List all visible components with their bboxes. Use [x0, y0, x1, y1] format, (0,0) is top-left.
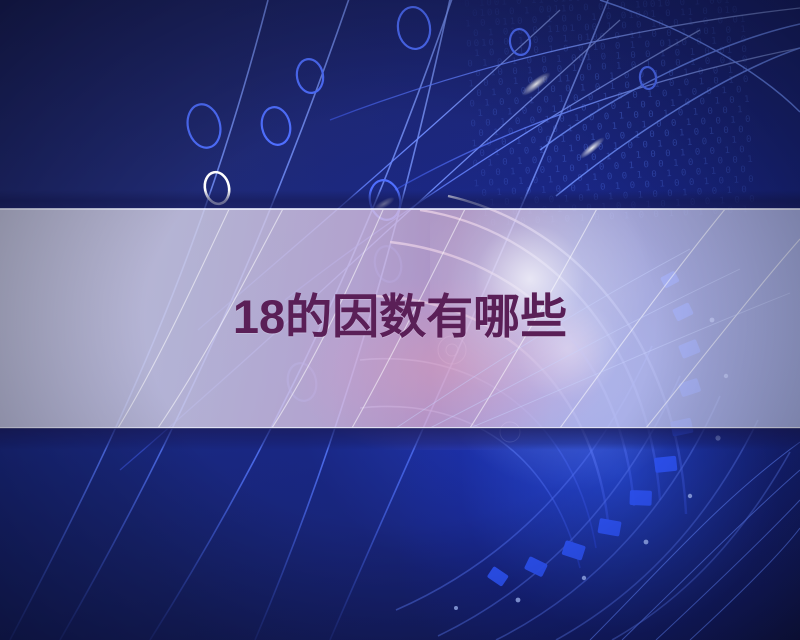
banner-image: 0 1001 0 11 0100 010 0 1 0110 00 1 0 010… — [0, 0, 800, 640]
vignette-overlay — [0, 0, 800, 640]
